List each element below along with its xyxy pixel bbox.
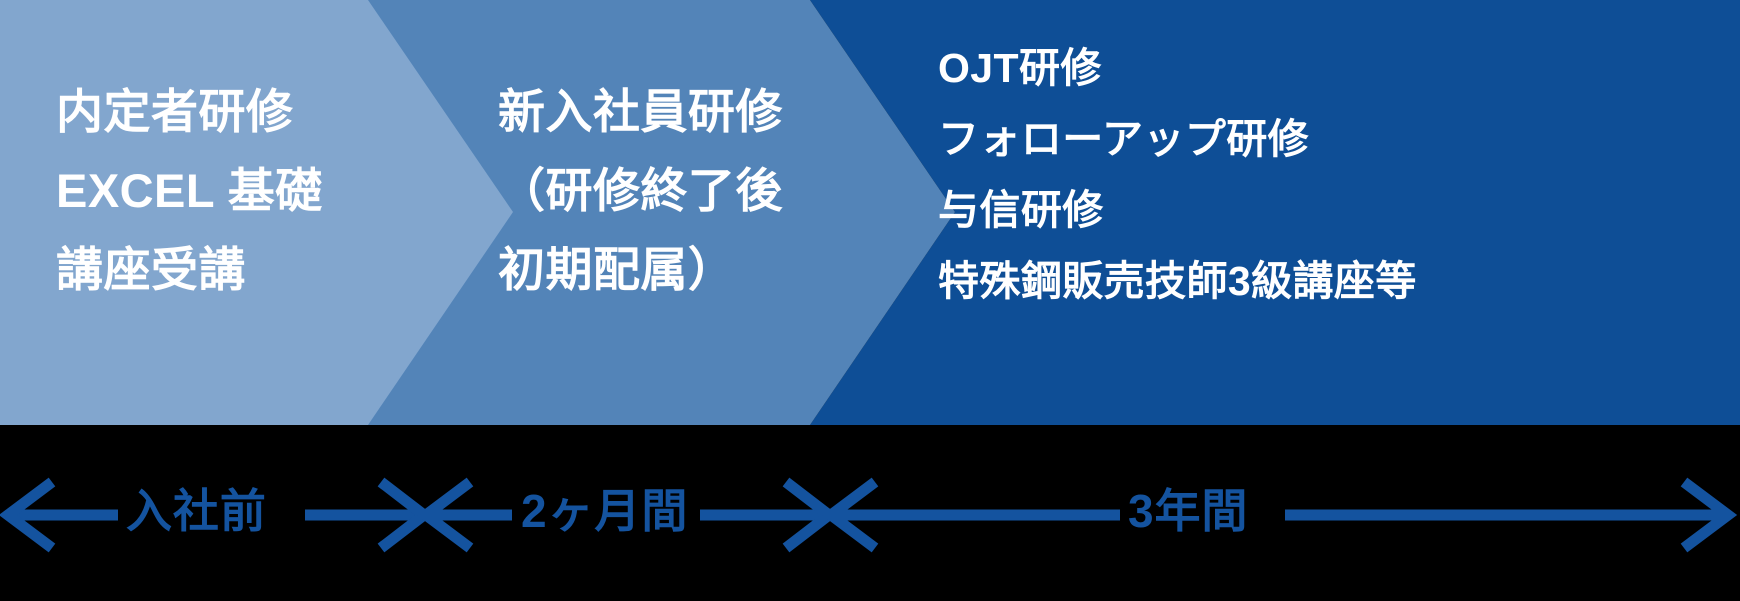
stage-3-line-2: フォローアップ研修 bbox=[938, 119, 1417, 160]
stage-2-line-3: 初期配属） bbox=[498, 246, 783, 293]
stage-1-line-1: 内定者研修 bbox=[56, 88, 323, 135]
chevron-band: 内定者研修 EXCEL 基礎 講座受講 新入社員研修 （研修終了後 初期配属） … bbox=[0, 0, 1740, 425]
timeline-label-period-2: 2ヶ月間 bbox=[521, 488, 688, 534]
stage-2-line-1: 新入社員研修 bbox=[498, 88, 783, 135]
stage-1-line-3: 講座受講 bbox=[56, 246, 323, 293]
stage-3-line-3: 与信研修 bbox=[938, 190, 1417, 231]
stage-2-line-2: （研修終了後 bbox=[498, 167, 783, 214]
timeline-label-period-3: 3年間 bbox=[1128, 488, 1248, 534]
stage-3-text-block: OJT研修 フォローアップ研修 与信研修 特殊鋼販売技師3級講座等 bbox=[938, 48, 1417, 302]
timeline-label-period-1: 入社前 bbox=[126, 488, 267, 534]
stage-3-line-1: OJT研修 bbox=[938, 48, 1417, 89]
diagram-canvas: 内定者研修 EXCEL 基礎 講座受講 新入社員研修 （研修終了後 初期配属） … bbox=[0, 0, 1740, 601]
stage-3-line-4: 特殊鋼販売技師3級講座等 bbox=[938, 261, 1417, 302]
stage-1-text-block: 内定者研修 EXCEL 基礎 講座受講 bbox=[56, 88, 323, 293]
stage-1-line-2: EXCEL 基礎 bbox=[56, 167, 323, 214]
stage-2-text-block: 新入社員研修 （研修終了後 初期配属） bbox=[498, 88, 783, 293]
